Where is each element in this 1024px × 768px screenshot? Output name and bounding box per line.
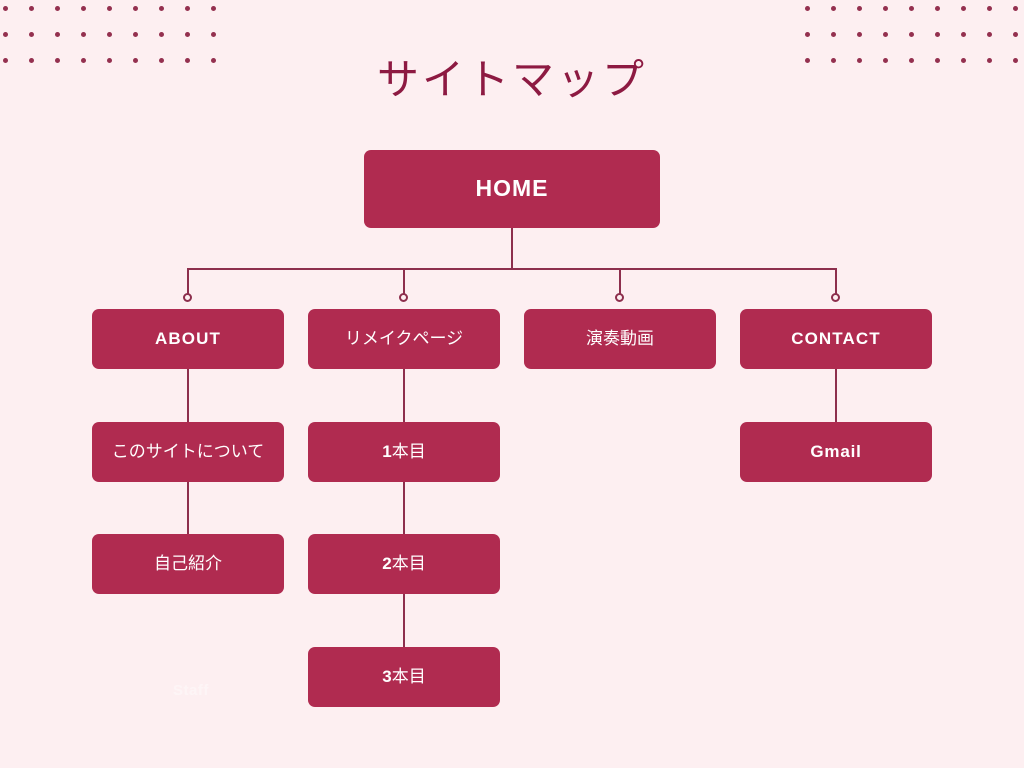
decorative-dot <box>883 6 888 11</box>
decorative-dot <box>55 32 60 37</box>
node-contact-label: CONTACT <box>791 329 881 349</box>
decorative-dot <box>909 6 914 11</box>
node-remake-2[interactable]: 2本目 <box>308 534 500 594</box>
decorative-dot <box>1013 32 1018 37</box>
connector-node-about <box>183 293 192 302</box>
node-remake-1-number: 1 <box>382 442 391 461</box>
decorative-dot <box>133 6 138 11</box>
node-about[interactable]: ABOUT <box>92 309 284 369</box>
decorative-dot <box>805 32 810 37</box>
node-about-site-label: このサイトについて <box>112 442 265 462</box>
node-self-intro-label: 自己紹介 <box>154 554 222 574</box>
decorative-dot <box>935 6 940 11</box>
decorative-dot <box>857 6 862 11</box>
node-self-intro[interactable]: 自己紹介 <box>92 534 284 594</box>
connector-contact-to-gmail <box>835 369 837 423</box>
node-performance-video[interactable]: 演奏動画 <box>524 309 716 369</box>
decorative-dot <box>159 32 164 37</box>
connector-about-to-site <box>187 369 189 423</box>
decorative-dot <box>831 32 836 37</box>
decorative-dot <box>3 32 8 37</box>
page-title: サイトマップ <box>0 55 1024 105</box>
sitemap-canvas: サイトマップ HOME ABOUT リメイクページ 演奏動画 CONTACT こ… <box>0 0 1024 768</box>
connector-node-video <box>615 293 624 302</box>
connector-home-stem <box>511 228 513 270</box>
decorative-dot <box>961 32 966 37</box>
connector-node-contact <box>831 293 840 302</box>
node-remake-1[interactable]: 1本目 <box>308 422 500 482</box>
connector-1-to-2 <box>403 481 405 535</box>
node-remake-2-label: 2本目 <box>382 554 425 574</box>
node-contact[interactable]: CONTACT <box>740 309 932 369</box>
node-performance-video-label: 演奏動画 <box>586 329 654 349</box>
connector-site-to-intro <box>187 481 189 535</box>
decorative-dot <box>211 6 216 11</box>
decorative-dot <box>55 6 60 11</box>
decorative-dot <box>883 32 888 37</box>
node-home-label: HOME <box>476 175 549 203</box>
node-gmail[interactable]: Gmail <box>740 422 932 482</box>
node-remake-2-number: 2 <box>382 554 391 573</box>
node-remake-3-suffix: 本目 <box>392 667 426 686</box>
watermark: Staff <box>173 682 209 699</box>
decorative-dot <box>29 32 34 37</box>
decorative-dot <box>831 6 836 11</box>
node-home[interactable]: HOME <box>364 150 660 228</box>
node-remake-1-label: 1本目 <box>382 442 425 462</box>
connector-2-to-3 <box>403 594 405 648</box>
decorative-dot <box>29 6 34 11</box>
decorative-dot <box>211 32 216 37</box>
decorative-dot <box>185 6 190 11</box>
node-about-site[interactable]: このサイトについて <box>92 422 284 482</box>
decorative-dot <box>909 32 914 37</box>
node-remake-3[interactable]: 3本目 <box>308 647 500 707</box>
decorative-dot <box>185 32 190 37</box>
connector-bus <box>187 268 837 270</box>
connector-remake-to-1 <box>403 369 405 423</box>
node-remake[interactable]: リメイクページ <box>308 309 500 369</box>
node-about-label: ABOUT <box>155 329 221 349</box>
node-remake-3-label: 3本目 <box>382 667 425 687</box>
decorative-dot <box>987 6 992 11</box>
decorative-dot <box>961 6 966 11</box>
decorative-dot <box>857 32 862 37</box>
node-gmail-label: Gmail <box>810 442 861 462</box>
decorative-dot <box>81 6 86 11</box>
decorative-dot <box>107 6 112 11</box>
decorative-dot <box>3 6 8 11</box>
decorative-dot <box>133 32 138 37</box>
decorative-dot <box>1013 6 1018 11</box>
node-remake-1-suffix: 本目 <box>392 442 426 461</box>
decorative-dot <box>987 32 992 37</box>
decorative-dot <box>81 32 86 37</box>
node-remake-3-number: 3 <box>382 667 391 686</box>
decorative-dot <box>107 32 112 37</box>
decorative-dot <box>935 32 940 37</box>
decorative-dot <box>159 6 164 11</box>
node-remake-2-suffix: 本目 <box>392 554 426 573</box>
connector-node-remake <box>399 293 408 302</box>
node-remake-label: リメイクページ <box>345 329 463 349</box>
decorative-dot <box>805 6 810 11</box>
